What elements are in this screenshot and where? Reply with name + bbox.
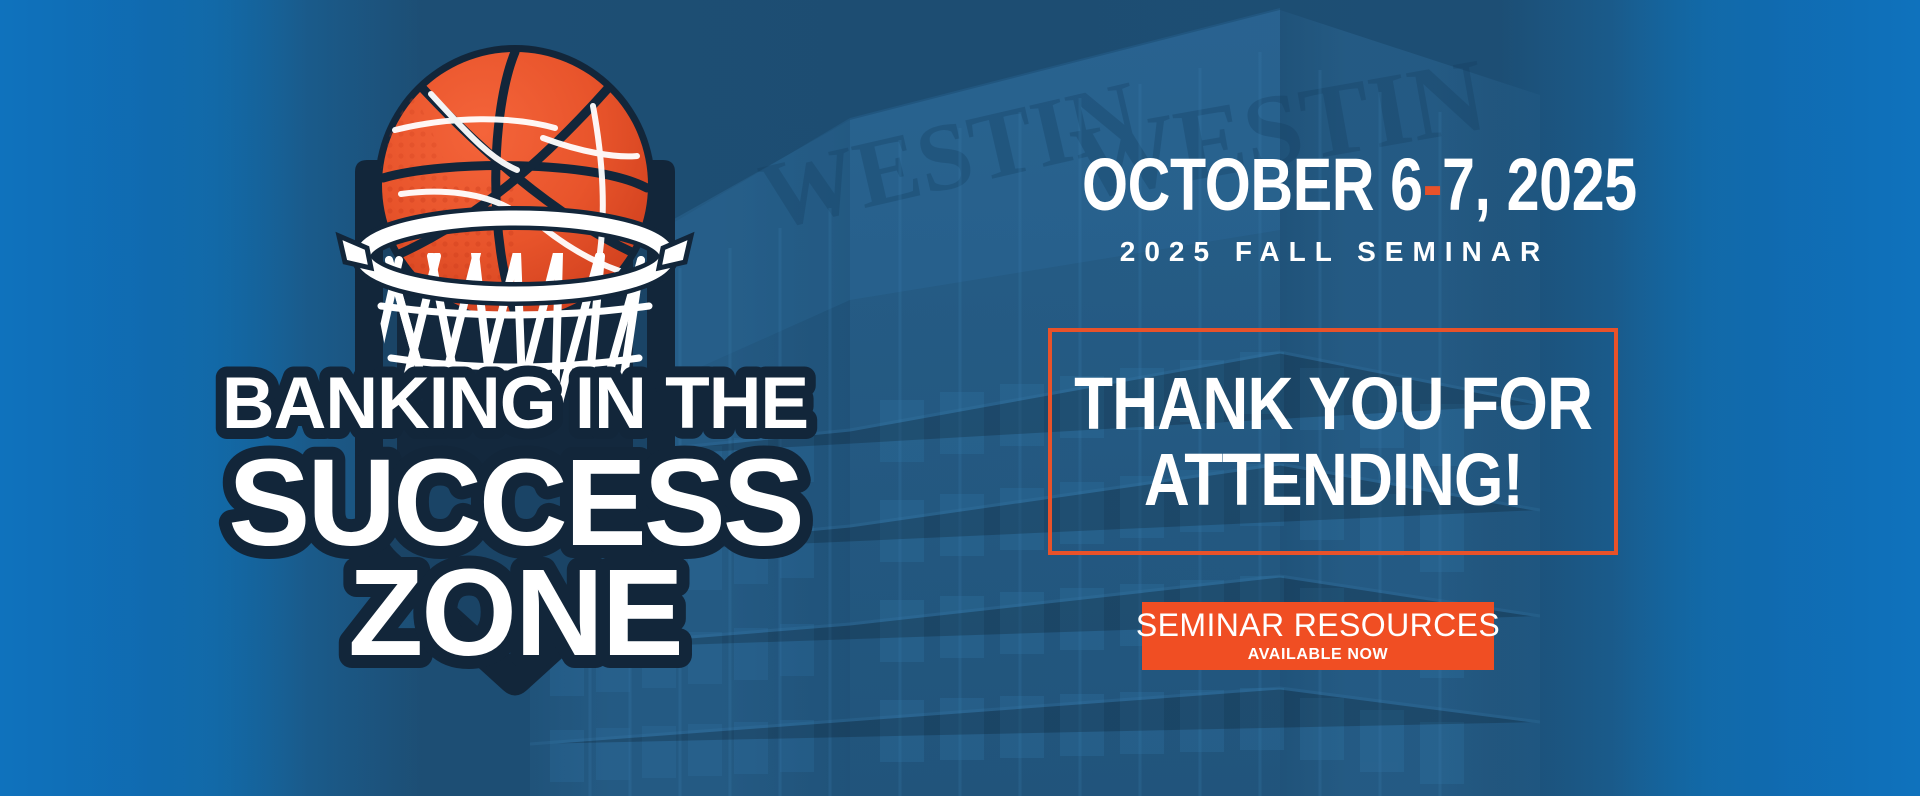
seminar-resources-label: SEMINAR RESOURCES [1136, 609, 1500, 641]
event-date-suffix: 7, 2025 [1442, 143, 1637, 226]
event-date: OCTOBER 6-7, 2025 [1082, 150, 1578, 220]
seminar-resources-sublabel: AVAILABLE NOW [1248, 647, 1389, 663]
thank-you-line1: THANK YOU FOR [1074, 367, 1592, 441]
logo-line1: BANKING IN THE [222, 363, 808, 444]
event-info-column: OCTOBER 6-7, 2025 2025 FALL SEMINAR THAN… [1020, 0, 1660, 796]
event-subtitle: 2025 FALL SEMINAR [1020, 236, 1640, 268]
event-date-prefix: OCTOBER 6 [1082, 143, 1423, 226]
thank-you-box: THANK YOU FOR ATTENDING! [1048, 328, 1618, 555]
banner-content: BANKING IN THE BANKING IN THE SUCCESS SU… [0, 0, 1920, 796]
logo-wordmark: BANKING IN THE BANKING IN THE SUCCESS SU… [222, 363, 808, 682]
success-zone-logo: BANKING IN THE BANKING IN THE SUCCESS SU… [255, 10, 775, 790]
thank-you-line2: ATTENDING! [1143, 443, 1522, 517]
event-banner: WESTIN WESTIN [0, 0, 1920, 796]
logo-line3: ZONE [348, 545, 682, 682]
seminar-resources-button[interactable]: SEMINAR RESOURCES AVAILABLE NOW [1142, 602, 1494, 670]
event-date-dash: - [1423, 143, 1442, 226]
